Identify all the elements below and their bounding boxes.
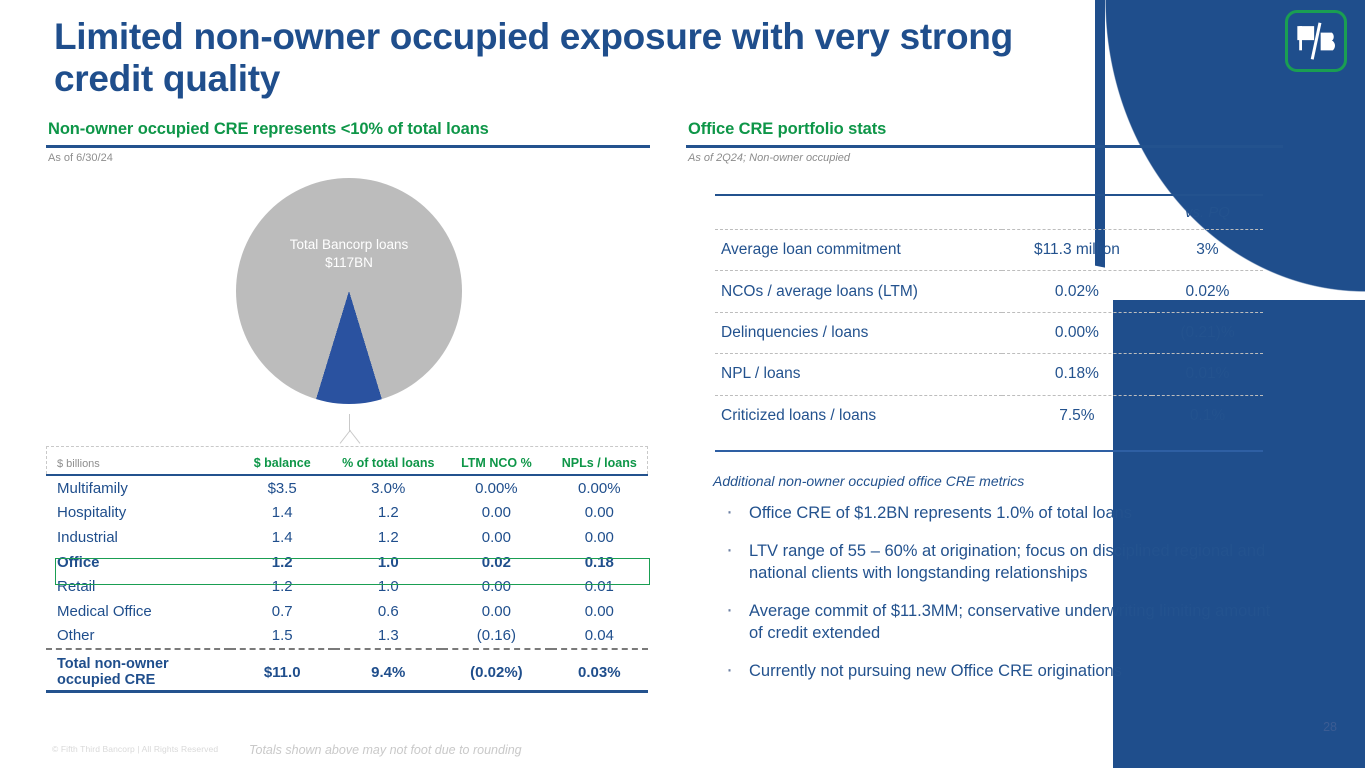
- office-cre-stats-table: vs. PQ Average loan commitment $11.3 mil…: [715, 185, 1263, 436]
- pie-to-table-callout: [46, 414, 650, 452]
- page-title: Limited non-owner occupied exposure with…: [54, 16, 1084, 100]
- list-item: Office CRE of $1.2BN represents 1.0% of …: [716, 503, 1286, 525]
- pie-center-label: Total Bancorp loans $117BN: [236, 236, 462, 272]
- row-label: Other: [46, 624, 230, 650]
- col-header-npl: NPLs / loans: [551, 456, 648, 475]
- cell-npl: 0.01: [551, 574, 648, 599]
- list-item: LTV range of 55 – 60% at origination; fo…: [716, 541, 1286, 585]
- additional-metrics-bullets: Office CRE of $1.2BN represents 1.0% of …: [716, 503, 1286, 683]
- table-row: Multifamily $3.5 3.0% 0.00% 0.00%: [46, 475, 648, 501]
- stats-row: NCOs / average loans (LTM) 0.02% 0.02%: [715, 271, 1263, 312]
- pie-slices: [236, 178, 462, 404]
- table-row: Retail 1.2 1.0 0.00 0.01: [46, 574, 648, 599]
- cell-pct-total: 9.4%: [334, 649, 442, 691]
- stats-col-header-blank: [715, 195, 1002, 230]
- cell-nco: 0.02: [442, 550, 550, 575]
- left-column: Non-owner occupied CRE represents <10% o…: [46, 120, 650, 693]
- stats-value: 7.5%: [1002, 395, 1152, 436]
- list-item: Currently not pursuing new Office CRE or…: [716, 661, 1286, 683]
- right-as-of-label: As of 2Q24; Non-owner occupied: [688, 152, 1286, 164]
- col-header-units: $ billions: [46, 456, 230, 475]
- total-label-line2: occupied CRE: [57, 672, 230, 688]
- row-label: Hospitality: [46, 501, 230, 526]
- total-loans-pie-chart: Total Bancorp loans $117BN: [46, 164, 650, 414]
- cell-pct: 0.6: [334, 599, 442, 624]
- cell-npl-total: 0.03%: [551, 649, 648, 691]
- table-header-row: $ billions $ balance % of total loans LT…: [46, 456, 648, 475]
- stats-vs-pq: 0.02%: [1152, 271, 1263, 312]
- cell-nco: 0.00: [442, 525, 550, 550]
- cell-balance: 1.4: [230, 525, 334, 550]
- cell-pct: 1.2: [334, 525, 442, 550]
- row-label: Industrial: [46, 525, 230, 550]
- table-row-total: Total non-owner occupied CRE $11.0 9.4% …: [46, 649, 648, 691]
- table-row: Hospitality 1.4 1.2 0.00 0.00: [46, 501, 648, 526]
- page-number: 28: [1323, 720, 1337, 734]
- stats-vs-pq: 3%: [1152, 230, 1263, 271]
- table-row: Other 1.5 1.3 (0.16) 0.04: [46, 624, 648, 650]
- right-section-rule: [686, 145, 1283, 148]
- cell-balance-total: $11.0: [230, 649, 334, 691]
- cell-balance: 0.7: [230, 599, 334, 624]
- table-row: Medical Office 0.7 0.6 0.00 0.00: [46, 599, 648, 624]
- cell-npl: 0.00: [551, 501, 648, 526]
- row-label: Office: [46, 550, 230, 575]
- stats-vs-pq: 0.1%: [1152, 395, 1263, 436]
- pie-center-line2: $117BN: [236, 254, 462, 272]
- stats-vs-pq: (0.21)%: [1152, 312, 1263, 353]
- cell-nco: 0.00%: [442, 475, 550, 501]
- slide: Limited non-owner occupied exposure with…: [0, 0, 1365, 768]
- additional-metrics-heading: Additional non-owner occupied office CRE…: [713, 473, 1286, 489]
- left-as-of-label: As of 6/30/24: [48, 152, 650, 164]
- cell-pct: 3.0%: [334, 475, 442, 501]
- cell-pct: 1.3: [334, 624, 442, 650]
- stats-vs-pq: 0.01%: [1152, 354, 1263, 395]
- list-item: Average commit of $11.3MM; conservative …: [716, 601, 1286, 645]
- stats-row: Delinquencies / loans 0.00% (0.21)%: [715, 312, 1263, 353]
- stats-header-row: vs. PQ: [715, 195, 1263, 230]
- cre-breakdown-table: $ billions $ balance % of total loans LT…: [46, 456, 648, 691]
- stats-value: 0.00%: [1002, 312, 1152, 353]
- stats-metric-label: NCOs / average loans (LTM): [715, 271, 1002, 312]
- stats-row: Criticized loans / loans 7.5% 0.1%: [715, 395, 1263, 436]
- stats-metric-label: NPL / loans: [715, 354, 1002, 395]
- cell-pct: 1.0: [334, 550, 442, 575]
- cell-nco-total: (0.02%): [442, 649, 550, 691]
- table-row: Industrial 1.4 1.2 0.00 0.00: [46, 525, 648, 550]
- cell-npl: 0.04: [551, 624, 648, 650]
- stats-row: Average loan commitment $11.3 million 3%: [715, 230, 1263, 271]
- stats-col-header-value: [1002, 195, 1152, 230]
- right-column: Office CRE portfolio stats As of 2Q24; N…: [686, 120, 1286, 699]
- cell-pct: 1.2: [334, 501, 442, 526]
- table-row-office-highlighted: Office 1.2 1.0 0.02 0.18: [46, 550, 648, 575]
- cell-nco: 0.00: [442, 574, 550, 599]
- cell-nco: (0.16): [442, 624, 550, 650]
- stats-col-header-vs-pq: vs. PQ: [1152, 195, 1263, 230]
- row-label-total: Total non-owner occupied CRE: [46, 649, 230, 691]
- left-section-rule: [46, 145, 650, 148]
- cell-nco: 0.00: [442, 599, 550, 624]
- total-label-line1: Total non-owner: [57, 656, 230, 672]
- row-label: Multifamily: [46, 475, 230, 501]
- fifth-third-logo-icon: [1285, 10, 1347, 72]
- col-header-nco: LTM NCO %: [442, 456, 550, 475]
- stats-row: NPL / loans 0.18% 0.01%: [715, 354, 1263, 395]
- cell-npl: 0.00: [551, 525, 648, 550]
- copyright-text: © Fifth Third Bancorp | All Rights Reser…: [52, 744, 218, 754]
- col-header-balance: $ balance: [230, 456, 334, 475]
- right-section-heading: Office CRE portfolio stats: [688, 120, 1286, 139]
- stats-value: $11.3 million: [1002, 230, 1152, 271]
- stats-metric-label: Criticized loans / loans: [715, 395, 1002, 436]
- cell-npl: 0.00: [551, 599, 648, 624]
- cell-nco: 0.00: [442, 501, 550, 526]
- cell-balance: 1.2: [230, 550, 334, 575]
- stats-metric-label: Average loan commitment: [715, 230, 1002, 271]
- cell-pct: 1.0: [334, 574, 442, 599]
- cell-balance: 1.4: [230, 501, 334, 526]
- stats-value: 0.18%: [1002, 354, 1152, 395]
- left-section-heading: Non-owner occupied CRE represents <10% o…: [48, 120, 650, 139]
- col-header-pct: % of total loans: [334, 456, 442, 475]
- stats-bottom-rule: [715, 450, 1263, 452]
- footnote-text: Totals shown above may not foot due to r…: [249, 743, 522, 757]
- cell-npl: 0.00%: [551, 475, 648, 501]
- cell-balance: 1.5: [230, 624, 334, 650]
- stats-value: 0.02%: [1002, 271, 1152, 312]
- stats-top-rule-row: [715, 185, 1263, 195]
- cell-balance: 1.2: [230, 574, 334, 599]
- pie-center-line1: Total Bancorp loans: [236, 236, 462, 254]
- cell-balance: $3.5: [230, 475, 334, 501]
- cell-npl: 0.18: [551, 550, 648, 575]
- row-label: Medical Office: [46, 599, 230, 624]
- stats-metric-label: Delinquencies / loans: [715, 312, 1002, 353]
- row-label: Retail: [46, 574, 230, 599]
